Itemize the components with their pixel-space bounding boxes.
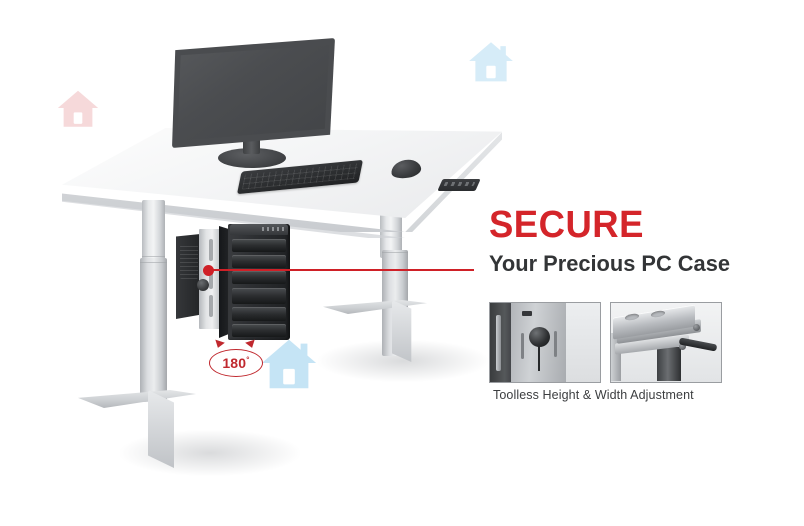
pc-tower-case: [228, 224, 290, 340]
standing-desk-scene: 180°: [0, 0, 500, 500]
product-marketing-image: 180° SECURE Your Precious PC Case: [0, 0, 804, 526]
pc-case-rear-vent: [180, 245, 198, 279]
feature-photo-row: [489, 302, 722, 383]
rotation-badge-180: 180°: [209, 349, 263, 377]
marketing-text-panel: SECURE Your Precious PC Case: [489, 206, 779, 276]
height-adjustment-knob-photo: [489, 302, 601, 383]
keypad-buttons[interactable]: [444, 182, 476, 186]
photo1-bracket-tab: [522, 311, 532, 316]
left-foot-shadow: [120, 430, 300, 476]
rotation-arrow-left-icon: [213, 340, 225, 350]
photo1-toolless-knob: [529, 327, 550, 347]
photo1-rail: [496, 315, 501, 371]
cpu-holder-knob: [197, 279, 209, 291]
photo1-slot-left: [521, 333, 524, 359]
callout-leader-line: [212, 269, 474, 271]
photo1-knob-stem: [538, 345, 540, 371]
pc-case-front-ports: [262, 227, 284, 231]
subheadline: Your Precious PC Case: [489, 252, 770, 276]
photo2-leg-column: [657, 347, 681, 381]
rotation-badge-value: 180°: [222, 356, 249, 370]
monitor-screen: [176, 42, 331, 144]
desk-control-keypad[interactable]: [437, 179, 480, 191]
photo2-bolt-upper: [693, 324, 700, 331]
callout-anchor-dot: [203, 265, 214, 276]
photo1-background: [566, 303, 600, 382]
right-desk-foot: [323, 300, 427, 314]
left-desk-foot: [78, 390, 196, 408]
rotation-arrow-right-icon: [245, 340, 257, 350]
feature-caption: Toolless Height & Width Adjustment: [493, 388, 694, 402]
right-desk-foot-front: [392, 300, 434, 362]
width-adjustment-lever-photo: [610, 302, 722, 383]
photo1-slot-right: [554, 331, 557, 357]
left-desk-foot-front: [148, 390, 198, 468]
headline-secure: SECURE: [489, 206, 767, 244]
